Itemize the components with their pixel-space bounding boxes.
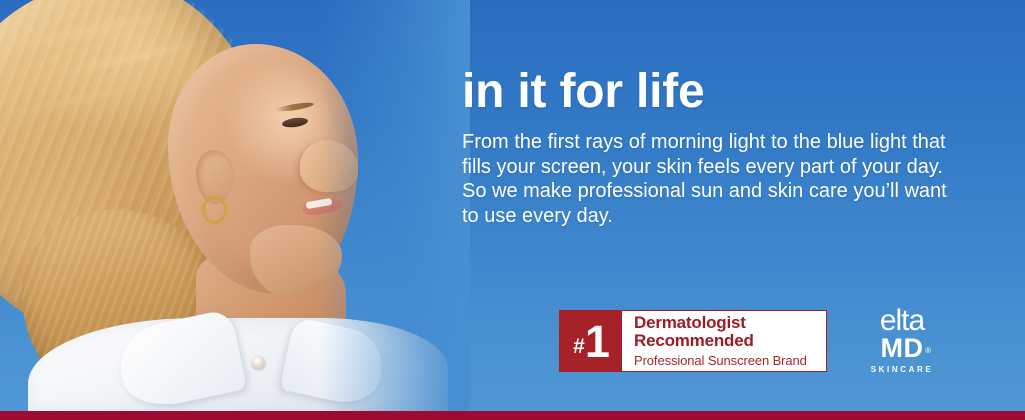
badge-rank-number: 1 [585,319,609,364]
logo-word-md: MD® [881,335,924,362]
page-title: in it for life [462,66,962,118]
eltamd-logo: elta MD® SKINCARE [855,308,949,374]
badge-rank-block: # 1 [560,311,622,371]
badge-hash-symbol: # [573,335,584,359]
logo-md-text: MD [881,333,924,363]
badge-title-line1: Dermatologist [634,314,812,332]
shirt-button [252,356,265,369]
bottom-accent-strip [0,411,1025,420]
registered-trademark-icon: ® [925,337,931,364]
photo-edge-fade [320,0,470,412]
badge-subtitle: Professional Sunscreen Brand [634,353,812,369]
eltamd-hero-banner: in it for life From the first rays of mo… [0,0,1025,420]
hero-copy-block: in it for life From the first rays of mo… [462,66,962,228]
dermatologist-recommended-badge: # 1 Dermatologist Recommended Profession… [559,310,827,372]
badge-text-panel: Dermatologist Recommended Professional S… [622,311,826,371]
logo-word-elta: elta [880,306,924,336]
logo-tagline: SKINCARE [871,365,934,374]
hero-body-text: From the first rays of morning light to … [462,130,952,228]
hero-photo [0,0,470,412]
badge-title-line2: Recommended [634,332,812,350]
